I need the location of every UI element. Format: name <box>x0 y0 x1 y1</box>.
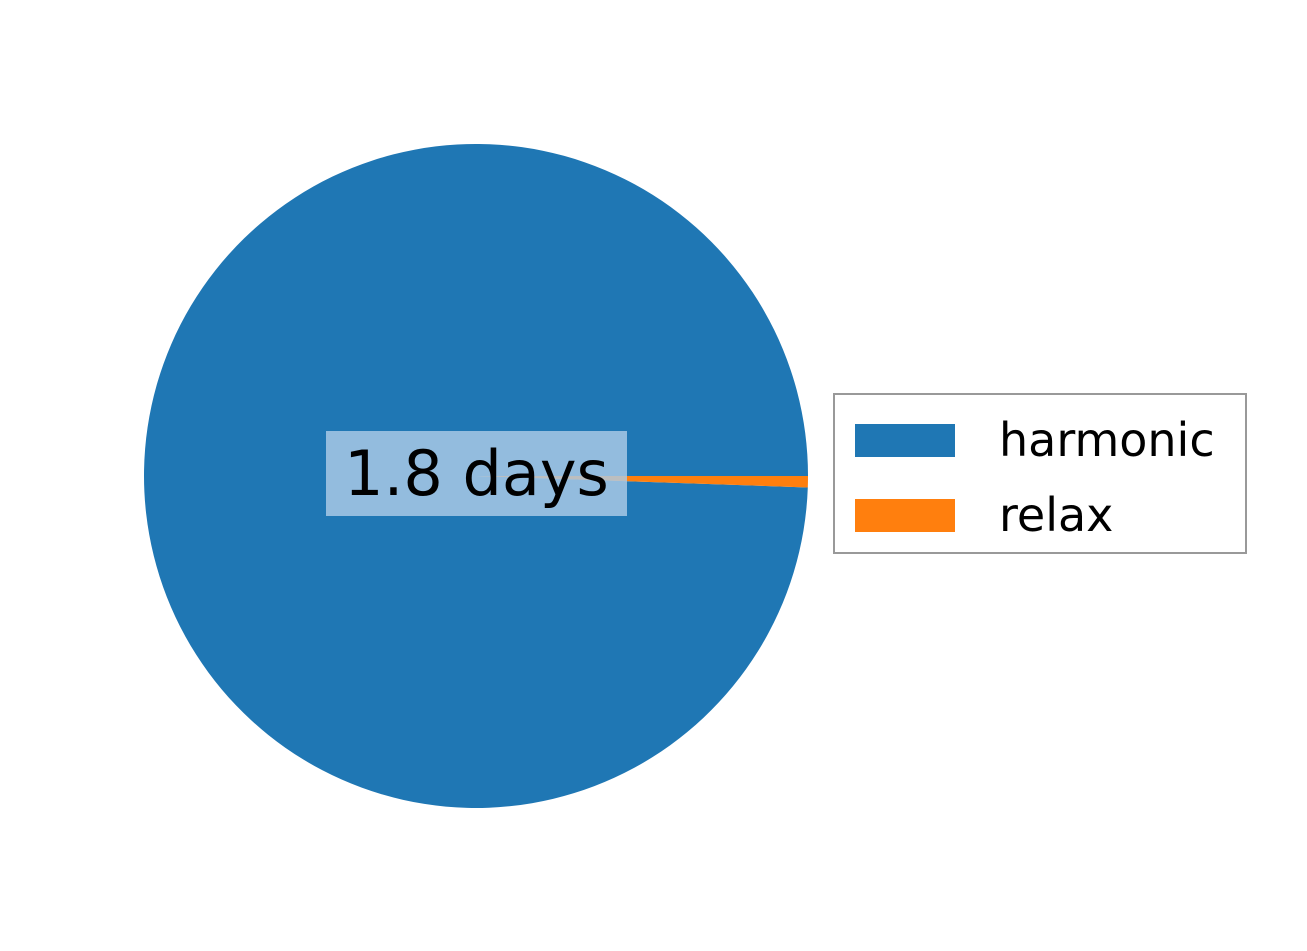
legend-label-relax: relax <box>999 492 1113 538</box>
legend-swatch-harmonic <box>855 424 955 457</box>
legend-label-harmonic: harmonic <box>999 417 1215 463</box>
pie-chart-figure: 1.8 days harmonic relax <box>0 0 1307 951</box>
legend-item-relax[interactable]: relax <box>855 490 1113 540</box>
pie-slice-label-harmonic: 1.8 days <box>326 431 627 516</box>
legend-item-harmonic[interactable]: harmonic <box>855 415 1215 465</box>
legend: harmonic relax <box>833 393 1247 554</box>
legend-swatch-relax <box>855 499 955 532</box>
